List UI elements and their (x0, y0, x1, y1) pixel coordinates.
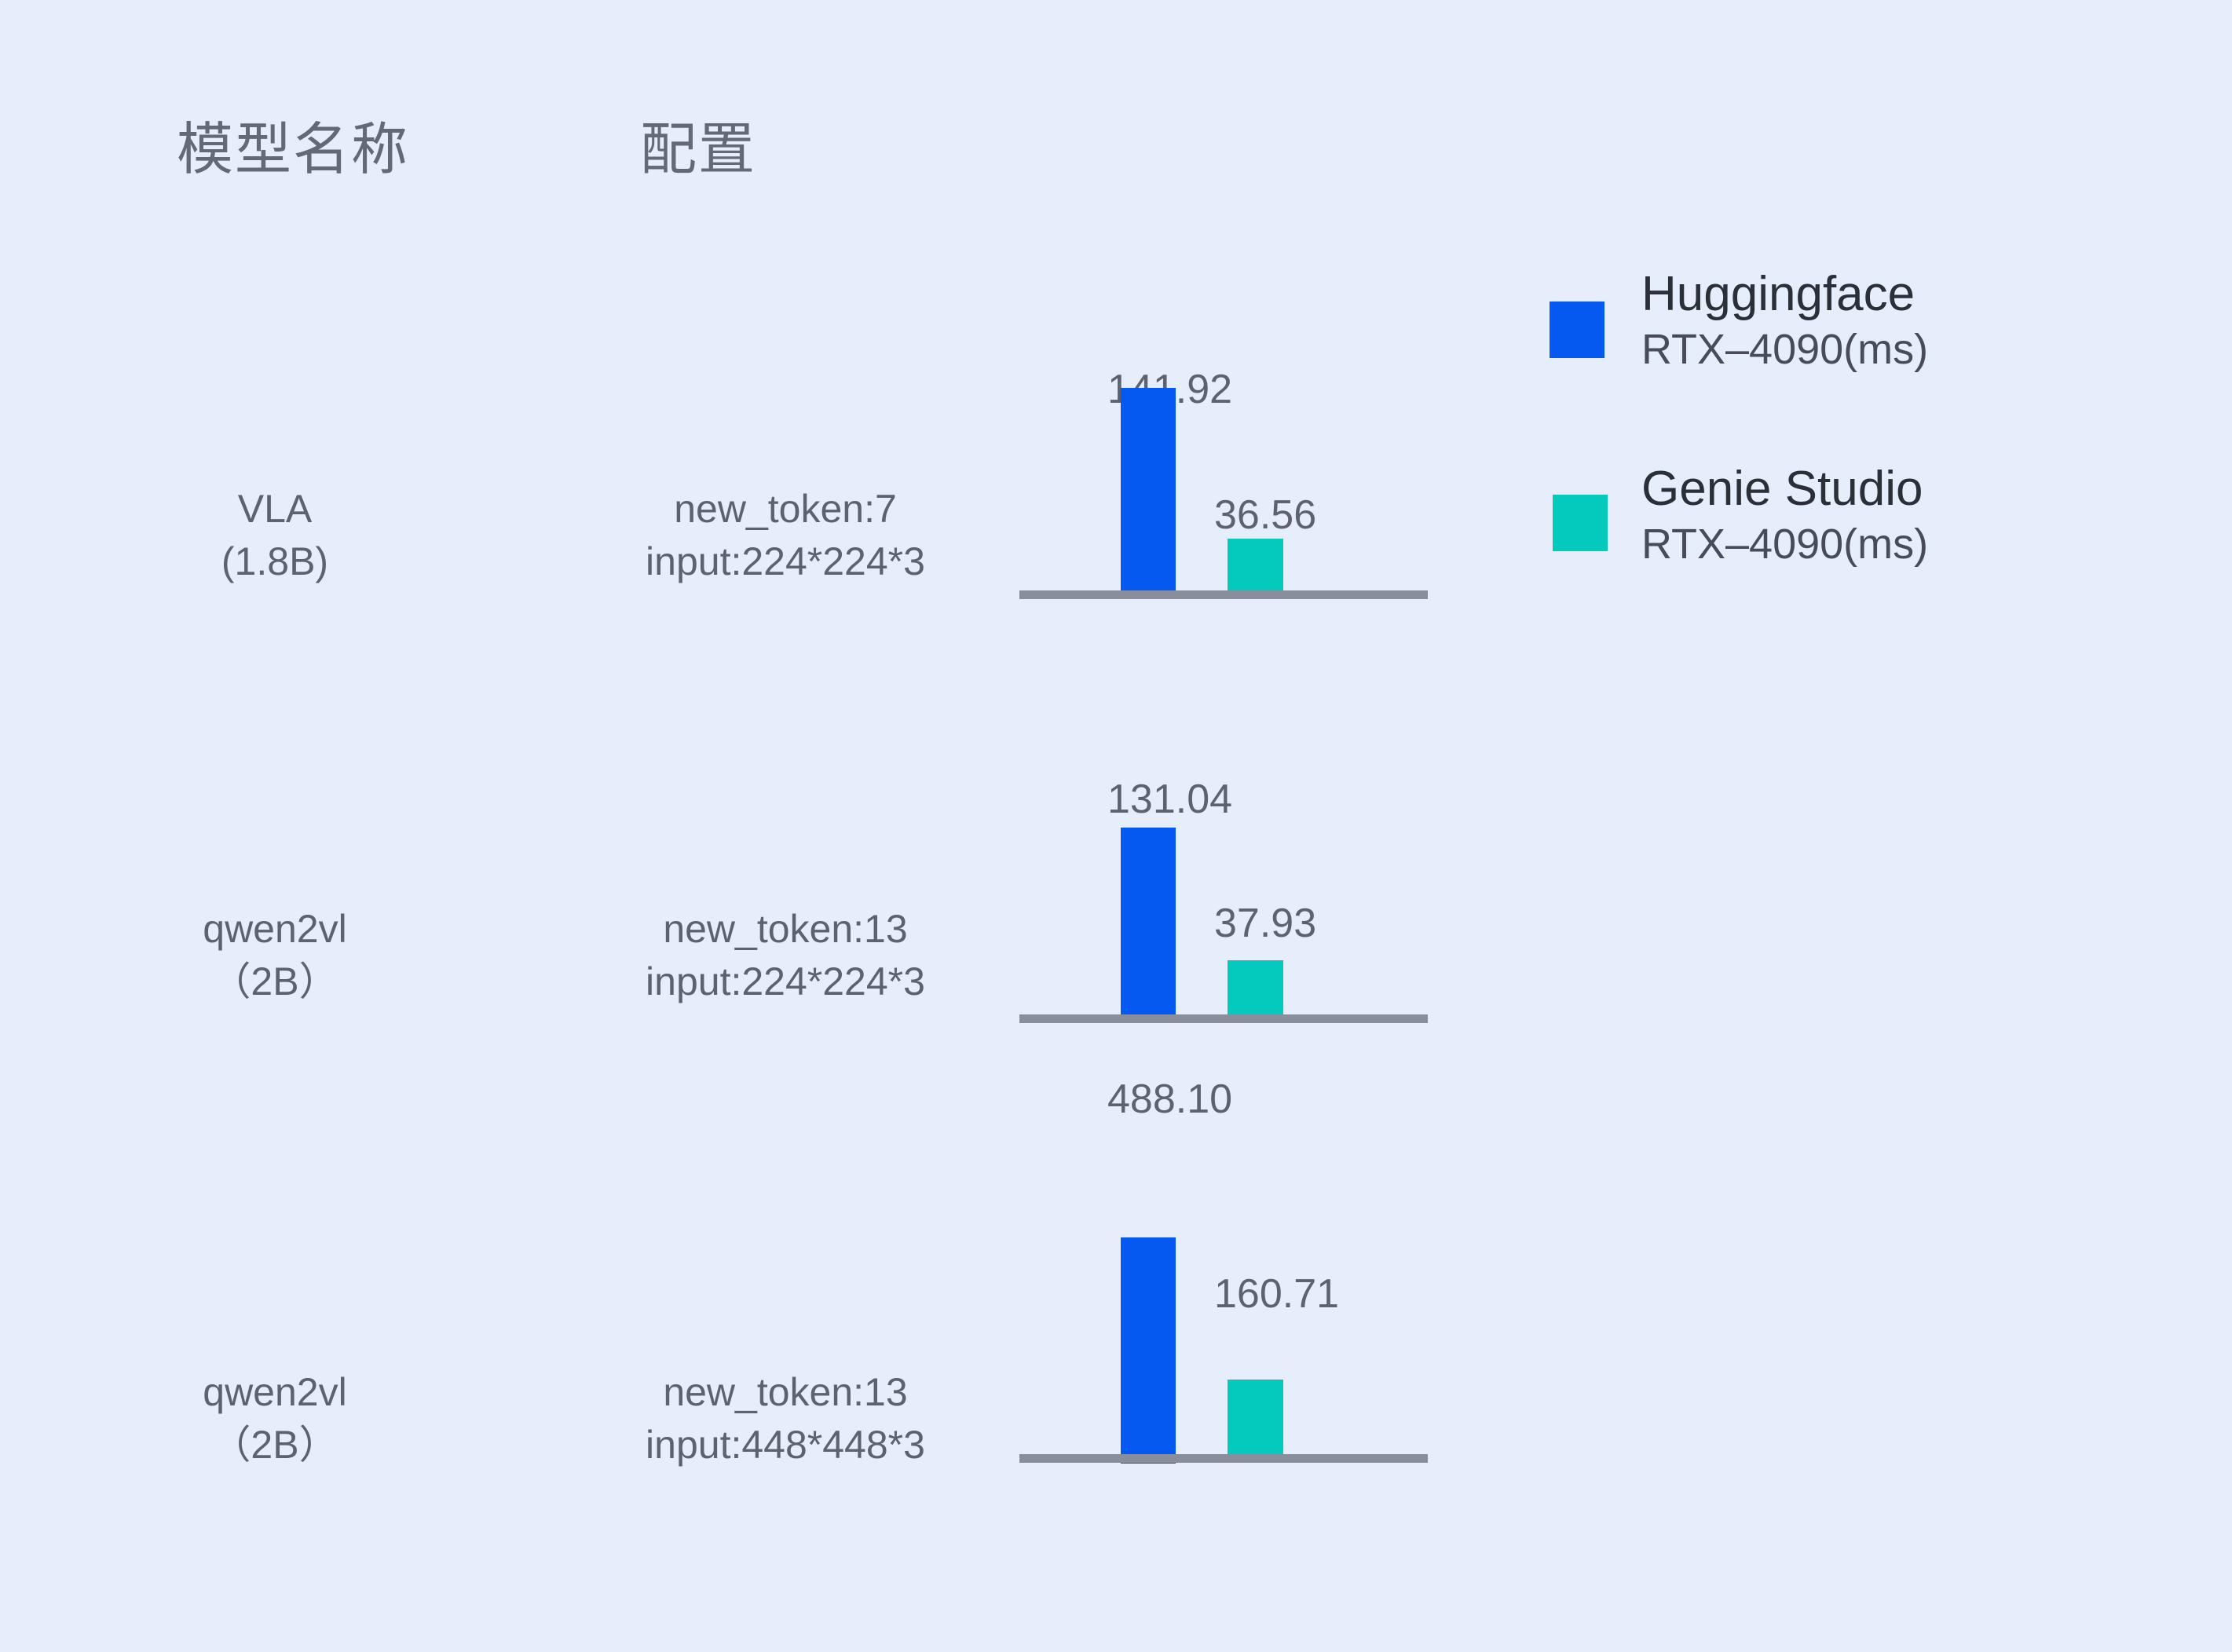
bar-chart-panel: 131.04 37.93 (1019, 660, 1428, 1029)
chart-baseline (1019, 1014, 1428, 1023)
legend-label-huggingface: Huggingface RTX–4090(ms) (1641, 267, 2160, 378)
bar-huggingface (1121, 1237, 1176, 1464)
chart-baseline (1019, 590, 1428, 599)
legend-item-huggingface[interactable]: Huggingface RTX–4090(ms) (1539, 181, 2168, 338)
config-line-2: input:224*224*3 (471, 956, 1100, 1008)
model-name-line-2: （2B） (118, 956, 432, 1008)
bar-value-label-huggingface: 131.04 (1107, 779, 1232, 820)
chart-baseline (1019, 1454, 1428, 1463)
model-name-line-1: qwen2vl (118, 903, 432, 956)
legend-swatch-icon-genie-studio (1553, 495, 1608, 551)
config-line-1: new_token:13 (471, 903, 1100, 956)
bar-chart-panel: 488.10 160.71 (1019, 1076, 1428, 1468)
legend-label-genie-studio: Genie Studio RTX–4090(ms) (1641, 462, 2160, 573)
bar-genie-studio (1228, 960, 1283, 1014)
config-line-2: input:224*224*3 (471, 535, 1100, 588)
legend-title: Huggingface (1641, 267, 2160, 321)
bar-huggingface (1121, 828, 1176, 1014)
cell-config: new_token:13 input:448*448*3 (471, 1366, 1100, 1471)
cell-model-name: VLA (1.8B) (118, 483, 432, 587)
bar-huggingface (1121, 388, 1176, 590)
model-name-line-1: VLA (118, 483, 432, 535)
config-line-1: new_token:13 (471, 1366, 1100, 1419)
cell-model-name: qwen2vl （2B） (118, 903, 432, 1007)
legend-subtitle: RTX–4090(ms) (1641, 516, 2160, 573)
table-row: qwen2vl （2B） new_token:13 input:224*224*… (0, 660, 2232, 1036)
column-header-model-name: 模型名称 (177, 122, 409, 178)
bar-value-label-genie-studio: 37.93 (1214, 903, 1316, 944)
bar-chart-panel: 141.92 36.56 (1019, 236, 1428, 605)
bar-value-label-huggingface: 488.10 (1107, 1079, 1232, 1120)
legend-item-genie-studio[interactable]: Genie Studio RTX–4090(ms) (1539, 375, 2168, 532)
cell-config: new_token:13 input:224*224*3 (471, 903, 1100, 1007)
model-name-line-2: (1.8B) (118, 535, 432, 588)
bar-value-label-genie-studio: 36.56 (1214, 495, 1316, 535)
table-row: qwen2vl （2B） new_token:13 input:448*448*… (0, 1076, 2232, 1484)
config-line-1: new_token:7 (471, 483, 1100, 535)
legend-title: Genie Studio (1641, 462, 2160, 516)
bar-genie-studio (1228, 1380, 1283, 1454)
model-name-line-2: （2B） (118, 1419, 432, 1471)
column-header-config: 配置 (640, 122, 756, 178)
legend-subtitle: RTX–4090(ms) (1641, 321, 2160, 378)
config-line-2: input:448*448*3 (471, 1419, 1100, 1471)
model-name-line-1: qwen2vl (118, 1366, 432, 1419)
bar-value-label-genie-studio: 160.71 (1214, 1274, 1339, 1314)
cell-model-name: qwen2vl （2B） (118, 1366, 432, 1471)
legend-swatch-icon-huggingface (1550, 302, 1604, 358)
cell-config: new_token:7 input:224*224*3 (471, 483, 1100, 587)
bar-genie-studio (1228, 539, 1283, 590)
